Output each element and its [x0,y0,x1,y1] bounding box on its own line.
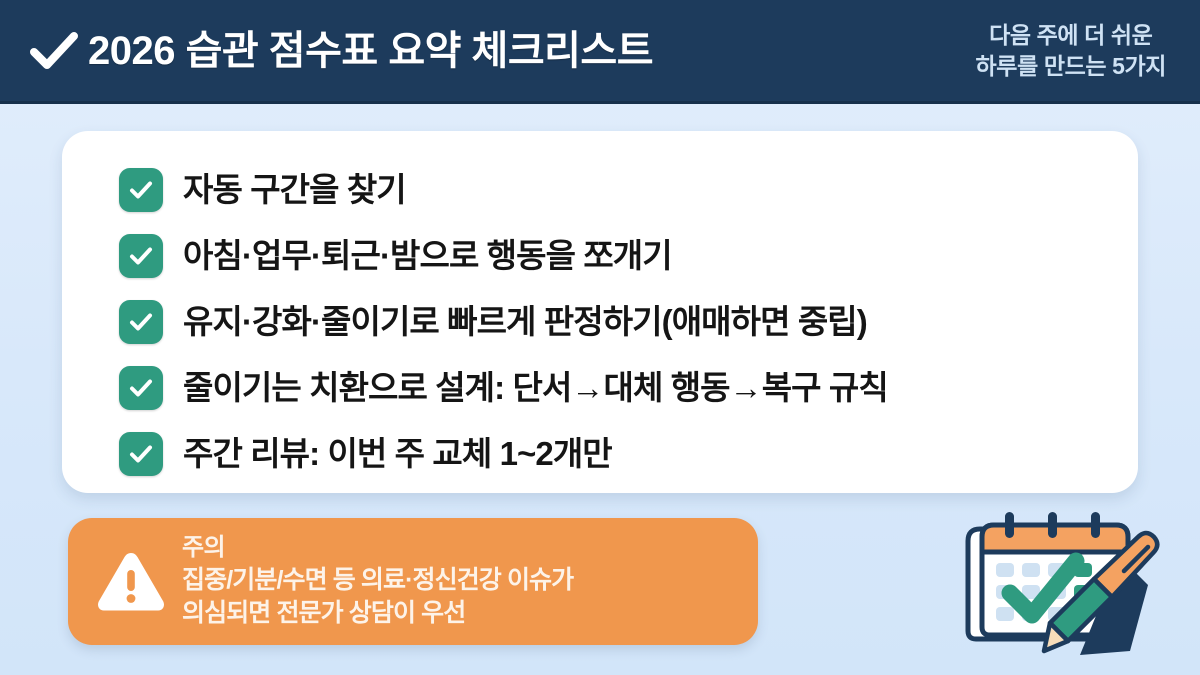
slide-root: 2026 습관 점수표 요약 체크리스트 다음 주에 더 쉬운 하루를 만드는 … [0,0,1200,675]
header-subtitle-line-1: 다음 주에 더 쉬운 [976,20,1166,50]
list-item[interactable]: 자동 구간을 찾기 [62,157,1138,223]
calendar-with-pen-illustration [952,505,1188,671]
header-subtitle-line-2: 하루를 만드는 5가지 [976,51,1166,81]
page-title: 2026 습관 점수표 요약 체크리스트 [88,29,976,73]
list-item[interactable]: 아침·업무·퇴근·밤으로 행동을 쪼개기 [62,223,1138,289]
checklist: 자동 구간을 찾기 아침·업무·퇴근·밤으로 행동을 쪼개기 유지·강화·줄이기… [62,157,1138,487]
check-icon [26,23,82,79]
list-item[interactable]: 줄이기는 치환으로 설계: 단서→대체 행동→복구 규칙 [62,355,1138,421]
checklist-card: 자동 구간을 찾기 아침·업무·퇴근·밤으로 행동을 쪼개기 유지·강화·줄이기… [62,131,1138,493]
checkmark-icon[interactable] [119,300,163,344]
warning-title: 주의 [182,534,738,562]
checkmark-icon[interactable] [119,234,163,278]
header-subtitle: 다음 주에 더 쉬운 하루를 만드는 5가지 [976,20,1182,81]
list-item-label: 유지·강화·줄이기로 빠르게 판정하기(애매하면 중립) [183,304,867,340]
warning-line-2: 의심되면 전문가 상담이 우선 [182,597,738,630]
warning-text-block: 주의 집중/기분/수면 등 의료·정신건강 이슈가 의심되면 전문가 상담이 우… [182,534,738,630]
warning-line-1: 집중/기분/수면 등 의료·정신건강 이슈가 [182,564,738,597]
checkmark-icon[interactable] [119,366,163,410]
checkmark-icon[interactable] [119,432,163,476]
list-item-label: 주간 리뷰: 이번 주 교체 1~2개만 [183,436,612,472]
header-bar: 2026 습관 점수표 요약 체크리스트 다음 주에 더 쉬운 하루를 만드는 … [0,0,1200,104]
list-item[interactable]: 주간 리뷰: 이번 주 교체 1~2개만 [62,421,1138,487]
list-item[interactable]: 유지·강화·줄이기로 빠르게 판정하기(애매하면 중립) [62,289,1138,355]
list-item-label: 줄이기는 치환으로 설계: 단서→대체 행동→복구 규칙 [183,370,888,406]
list-item-label: 아침·업무·퇴근·밤으로 행동을 쪼개기 [183,238,672,274]
list-item-label: 자동 구간을 찾기 [183,172,406,208]
warning-triangle-icon [94,547,168,617]
checkmark-icon[interactable] [119,168,163,212]
warning-callout: 주의 집중/기분/수면 등 의료·정신건강 이슈가 의심되면 전문가 상담이 우… [68,518,758,645]
